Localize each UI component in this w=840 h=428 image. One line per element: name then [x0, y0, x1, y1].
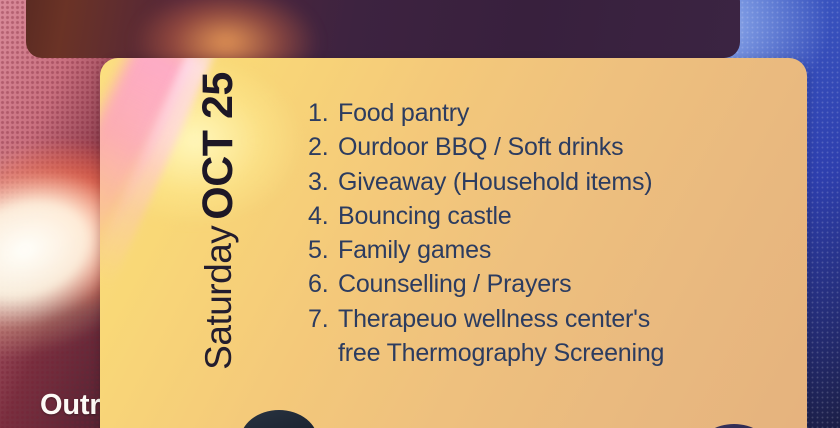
event-day-of-week: Saturday [200, 226, 237, 370]
list-item-label: Bouncing castle [338, 199, 512, 233]
list-item-number: 2. [308, 130, 338, 164]
list-item-number: 3. [308, 165, 338, 199]
list-item-label: Food pantry [338, 96, 469, 130]
list-item-number: 6. [308, 267, 338, 301]
list-item: 7. Therapeuo wellness center's [308, 302, 788, 336]
agenda-list: 1. Food pantry 2. Ourdoor BBQ / Soft dri… [308, 96, 788, 370]
list-item-number: 5. [308, 233, 338, 267]
list-item: 6. Counselling / Prayers [308, 267, 788, 301]
agenda-card: Saturday OCT 25 1. Food pantry 2. Ourdoo… [100, 58, 807, 428]
list-item: 2. Ourdoor BBQ / Soft drinks [308, 130, 788, 164]
event-flyer: Outreach / Family Games Night 1:00PM Sat… [0, 0, 840, 428]
list-item-label: Counselling / Prayers [338, 267, 571, 301]
person-silhouette-right [700, 424, 770, 428]
list-item-label: Therapeuo wellness center's [338, 302, 650, 336]
person-head [240, 410, 318, 428]
list-item-number: 4. [308, 199, 338, 233]
list-item-number: 1. [308, 96, 338, 130]
list-item-label: Ourdoor BBQ / Soft drinks [338, 130, 623, 164]
list-item-continuation: free Thermography Screening [308, 336, 788, 370]
list-item-label: Giveaway (Household items) [338, 165, 652, 199]
person-head [700, 424, 768, 428]
list-item-label: Family games [338, 233, 491, 267]
list-item: 3. Giveaway (Household items) [308, 165, 788, 199]
list-item: 1. Food pantry [308, 96, 788, 130]
event-date-wrap: Saturday OCT 25 [197, 72, 240, 370]
person-silhouette-left [240, 410, 320, 428]
event-date-block: Saturday OCT 25 [173, 96, 263, 346]
list-item: 5. Family games [308, 233, 788, 267]
event-date-label: OCT 25 [197, 72, 240, 220]
list-item-number: 7. [308, 302, 338, 336]
list-item: 4. Bouncing castle [308, 199, 788, 233]
